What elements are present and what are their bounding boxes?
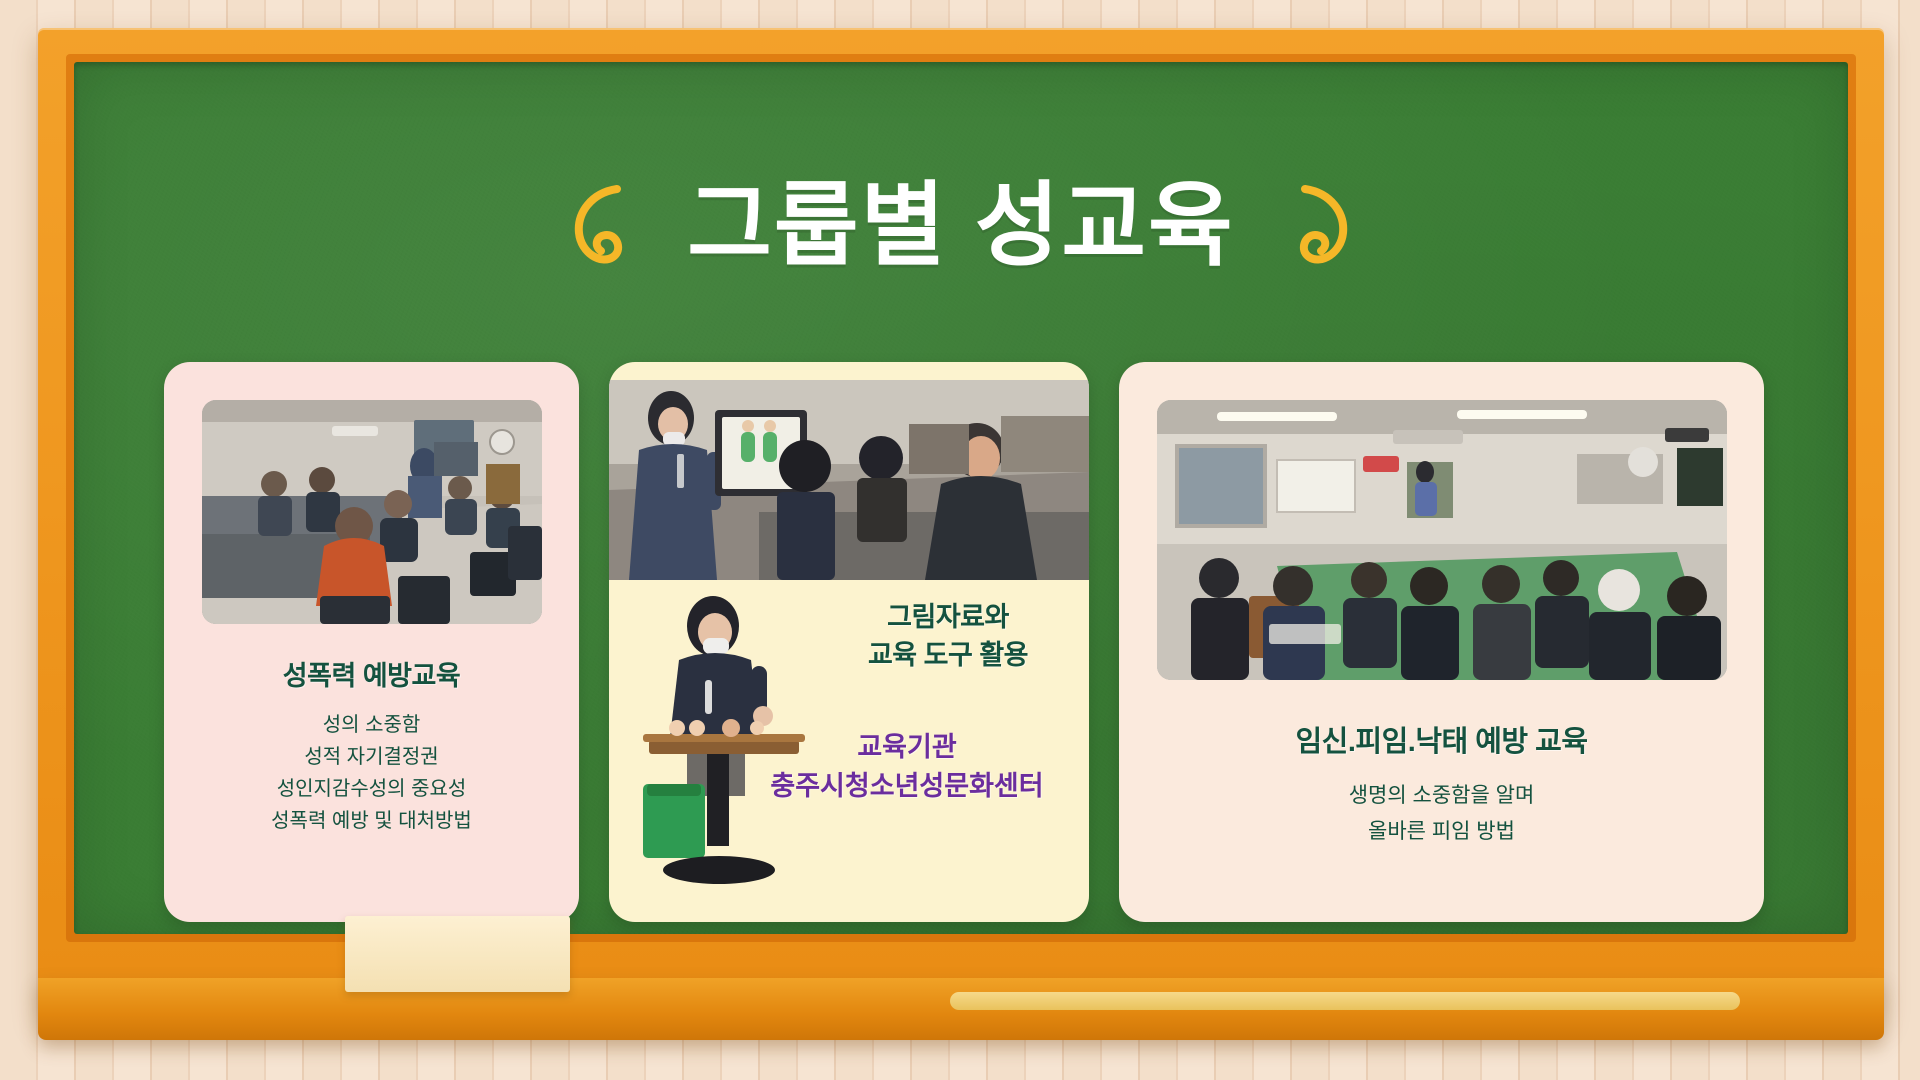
chalkboard-frame: 그룹별 성교육 xyxy=(38,28,1884,1018)
card-right-lines: 생명의 소중함을 알며 올바른 피임 방법 xyxy=(1119,778,1764,850)
cards-row: 성폭력 예방교육 성의 소중함 성적 자기결정권 성인지감수성의 중요성 성폭력… xyxy=(164,362,1764,922)
card-left-line-4: 성폭력 예방 및 대처방법 xyxy=(164,805,579,837)
card-middle-heading: 그림자료와 교육 도구 활용 xyxy=(817,598,1079,674)
card-left-line-2: 성적 자기결정권 xyxy=(164,741,579,773)
card-left-line-3: 성인지감수성의 중요성 xyxy=(164,773,579,805)
card-middle-organization: 교육기관 충주시청소년성문화센터 xyxy=(727,728,1087,806)
photo-large-classroom-lecture xyxy=(1157,400,1727,680)
chalk-block xyxy=(345,916,570,992)
page-title: 그룹별 성교육 xyxy=(687,180,1234,272)
card-left-line-1: 성의 소중함 xyxy=(164,709,579,741)
card-middle-heading-line-2: 교육 도구 활용 xyxy=(817,636,1079,674)
organization-label: 교육기관 xyxy=(727,728,1087,766)
card-teaching-materials[interactable]: 그림자료와 교육 도구 활용 교육기관 충주시청소년성문화센터 xyxy=(609,362,1089,922)
title-row: 그룹별 성교육 xyxy=(74,180,1848,272)
card-middle-heading-line-1: 그림자료와 xyxy=(817,598,1079,636)
card-left-lines: 성의 소중함 성적 자기결정권 성인지감수성의 중요성 성폭력 예방 및 대처방… xyxy=(164,709,579,837)
card-right-line-2: 올바른 피임 방법 xyxy=(1119,814,1764,850)
photo-classroom-seated-group xyxy=(202,400,542,624)
card-right-title: 임신.피임.낙태 예방 교육 xyxy=(1119,718,1764,760)
card-middle-lower: 그림자료와 교육 도구 활용 교육기관 충주시청소년성문화센터 xyxy=(609,580,1089,910)
card-pregnancy-contraception-education[interactable]: 임신.피임.낙태 예방 교육 생명의 소중함을 알며 올바른 피임 방법 xyxy=(1119,362,1764,922)
swirl-right-icon xyxy=(1281,183,1353,269)
photo-instructor-with-picture-board xyxy=(609,380,1089,580)
chalkboard-surface: 그룹별 성교육 xyxy=(74,62,1848,934)
card-left-title: 성폭력 예방교육 xyxy=(164,654,579,693)
chalk-ledge-stripe xyxy=(950,992,1740,1010)
card-right-line-1: 생명의 소중함을 알며 xyxy=(1119,778,1764,814)
organization-name: 충주시청소년성문화센터 xyxy=(727,766,1087,806)
card-sexual-violence-prevention[interactable]: 성폭력 예방교육 성의 소중함 성적 자기결정권 성인지감수성의 중요성 성폭력… xyxy=(164,362,579,922)
swirl-left-icon xyxy=(569,183,641,269)
